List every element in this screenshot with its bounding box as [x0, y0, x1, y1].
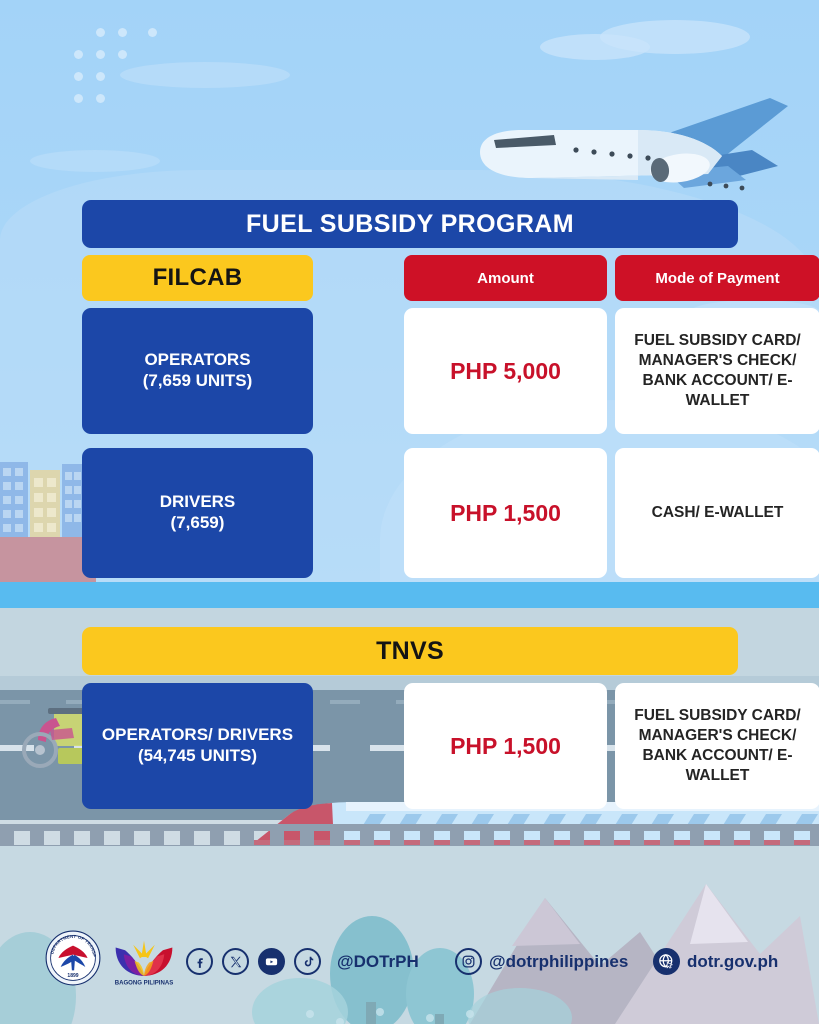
bagong-pilipinas-logo: BAGONG PILIPINAS: [110, 934, 178, 988]
tnvs-label: TNVS: [376, 637, 444, 666]
instagram-handle: @dotrphilippines: [489, 952, 628, 972]
row-category-text: DRIVERS(7,659): [154, 492, 242, 533]
row-amount-text: PHP 1,500: [450, 733, 561, 760]
social-links-group[interactable]: @DOTrPH: [186, 948, 419, 975]
content-layer: FUEL SUBSIDY PROGRAM FILCAB Amount Mode …: [0, 0, 819, 1024]
row-amount-cell: PHP 1,500: [404, 448, 607, 578]
table-row: DRIVERS(7,659) PHP 1,500 CASH/ E-WALLET: [82, 448, 738, 578]
filcab-label: FILCAB: [153, 264, 243, 292]
row-mode-cell: CASH/ E-WALLET: [615, 448, 819, 578]
facebook-icon[interactable]: [186, 948, 213, 975]
website-link-group[interactable]: dotr.gov.ph: [653, 948, 778, 975]
column-header-category: FILCAB: [82, 255, 313, 301]
row-amount-text: PHP 1,500: [450, 500, 561, 527]
dotr-seal-logo: 1899 DEPARTMENT OF TRANSPORTATION: [45, 930, 101, 986]
row-amount-cell: PHP 5,000: [404, 308, 607, 434]
row-category-text: OPERATORS(7,659 UNITS): [137, 350, 259, 391]
row-mode-text: FUEL SUBSIDY CARD/ MANAGER'S CHECK/ BANK…: [615, 706, 819, 785]
row-mode-text: FUEL SUBSIDY CARD/ MANAGER'S CHECK/ BANK…: [615, 331, 819, 410]
youtube-icon[interactable]: [258, 948, 285, 975]
row-category-text: OPERATORS/ DRIVERS(54,745 UNITS): [96, 725, 299, 766]
mode-of-payment-label: Mode of Payment: [655, 270, 779, 287]
dotr-handle: @DOTrPH: [337, 952, 419, 972]
amount-label: Amount: [477, 270, 534, 287]
row-mode-cell: FUEL SUBSIDY CARD/ MANAGER'S CHECK/ BANK…: [615, 308, 819, 434]
program-title-bar: FUEL SUBSIDY PROGRAM: [82, 200, 738, 248]
row-amount-text: PHP 5,000: [450, 358, 561, 385]
row-amount-cell: PHP 1,500: [404, 683, 607, 809]
table-header-row: FILCAB Amount Mode of Payment: [82, 255, 738, 301]
infographic-canvas: FUEL SUBSIDY PROGRAM FILCAB Amount Mode …: [0, 0, 819, 1024]
row-category-cell: OPERATORS/ DRIVERS(54,745 UNITS): [82, 683, 313, 809]
row-mode-text: CASH/ E-WALLET: [644, 503, 792, 523]
table-row: OPERATORS(7,659 UNITS) PHP 5,000 FUEL SU…: [82, 308, 738, 434]
row-mode-cell: FUEL SUBSIDY CARD/ MANAGER'S CHECK/ BANK…: [615, 683, 819, 809]
tiktok-icon[interactable]: [294, 948, 321, 975]
column-header-amount: Amount: [404, 255, 607, 301]
row-category-cell: OPERATORS(7,659 UNITS): [82, 308, 313, 434]
column-header-mode-of-payment: Mode of Payment: [615, 255, 819, 301]
x-twitter-icon[interactable]: [222, 948, 249, 975]
instagram-icon[interactable]: [455, 948, 482, 975]
tnvs-section-header: TNVS: [82, 627, 738, 675]
website-label: dotr.gov.ph: [687, 952, 778, 972]
page-title: FUEL SUBSIDY PROGRAM: [246, 210, 574, 239]
table-row: OPERATORS/ DRIVERS(54,745 UNITS) PHP 1,5…: [82, 683, 738, 809]
bagong-pilipinas-label: BAGONG PILIPINAS: [115, 981, 174, 987]
instagram-link-group[interactable]: @dotrphilippines: [455, 948, 628, 975]
globe-icon[interactable]: [653, 948, 680, 975]
seal-year: 1899: [67, 973, 78, 979]
row-category-cell: DRIVERS(7,659): [82, 448, 313, 578]
